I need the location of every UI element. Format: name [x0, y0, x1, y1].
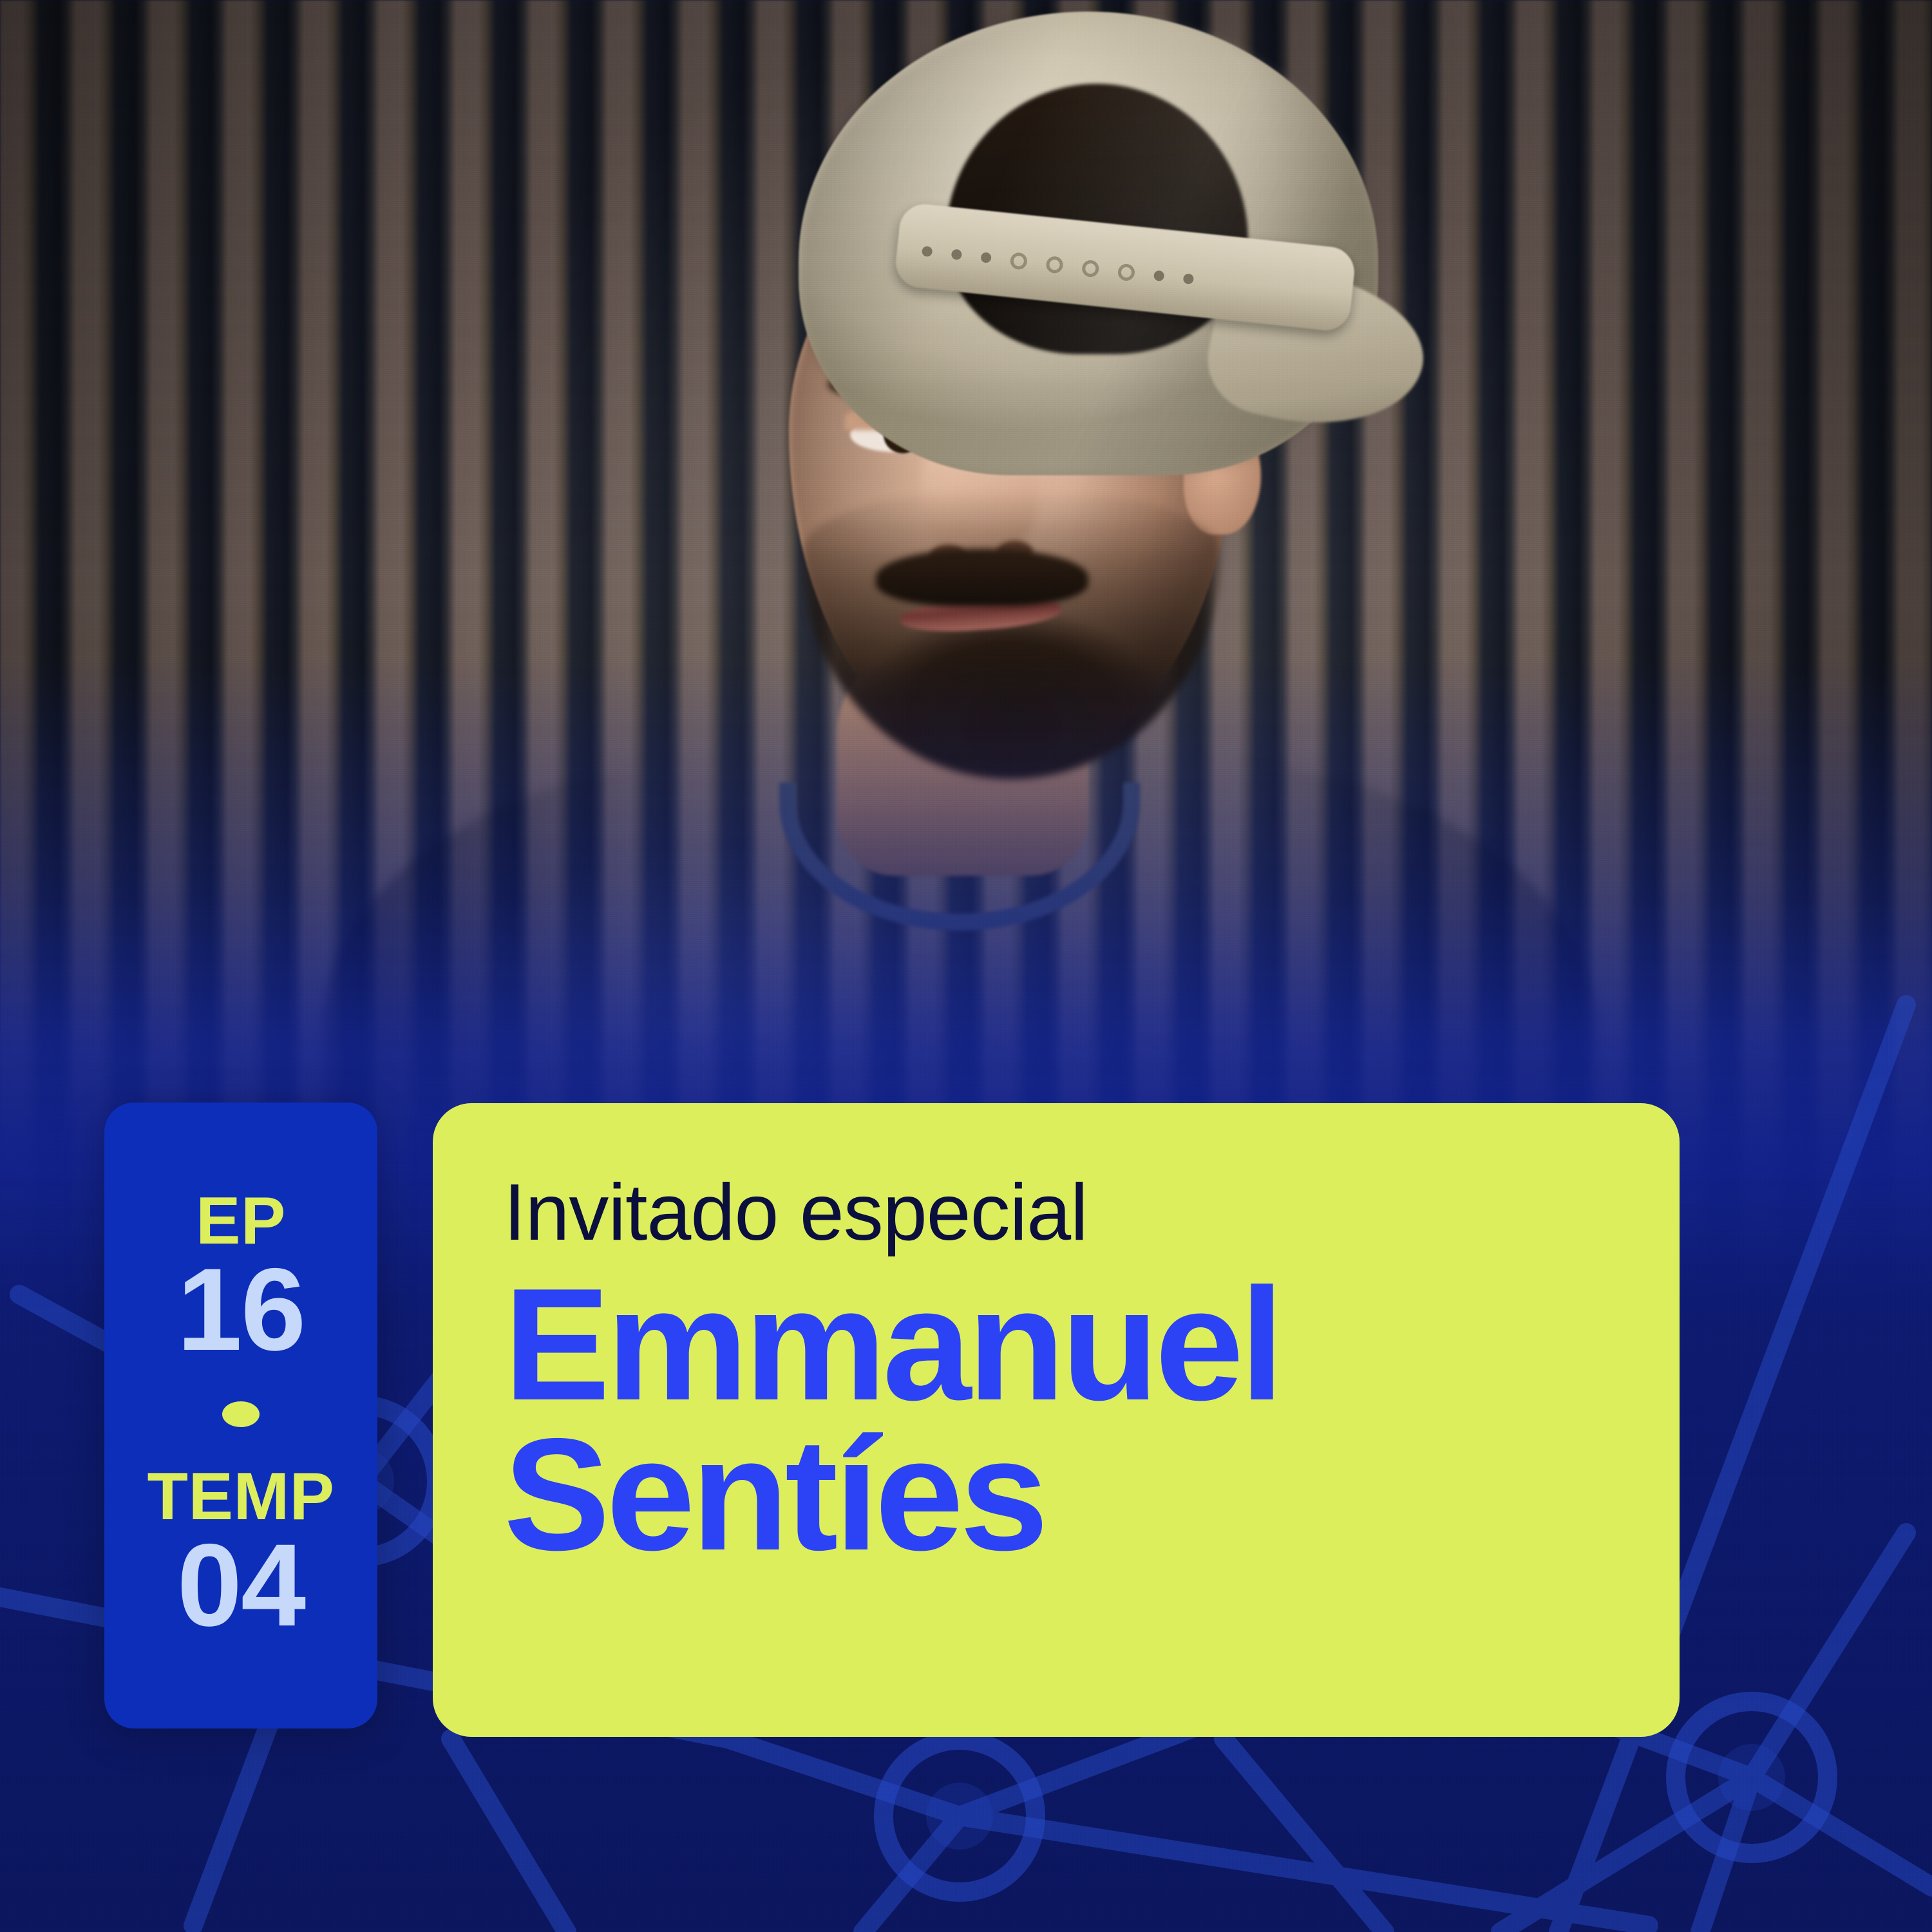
episode-cover-poster: EP 16 TEMP 04 Invitado especial Emmanuel…	[0, 0, 1932, 1932]
season-number: 04	[177, 1526, 305, 1643]
guest-name: Emmanuel Sentíes	[504, 1269, 1680, 1569]
guest-title-card: Invitado especial Emmanuel Sentíes	[433, 1103, 1680, 1737]
episode-season-badge: EP 16 TEMP 04	[104, 1103, 377, 1728]
guest-last-name: Sentíes	[504, 1419, 1680, 1569]
separator-dot	[222, 1401, 260, 1427]
episode-number: 16	[177, 1251, 305, 1368]
eyebrow-label: Invitado especial	[504, 1173, 1680, 1253]
guest-first-name: Emmanuel	[504, 1269, 1680, 1419]
